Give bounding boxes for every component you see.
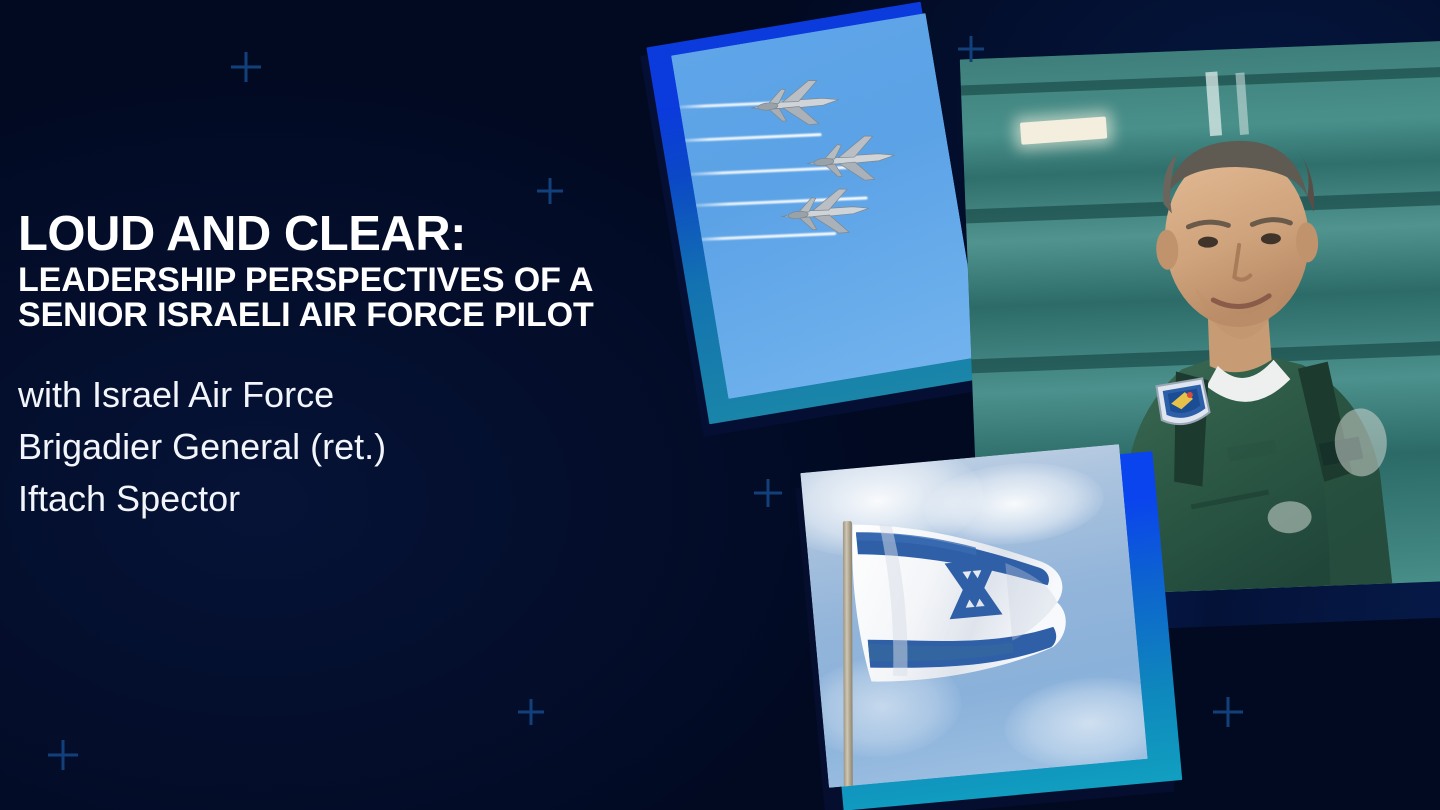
page-subtitle: LEADERSHIP PERSPECTIVES OF A SENIOR ISRA… — [18, 263, 678, 333]
plus-icon — [754, 479, 782, 507]
plus-icon — [1213, 697, 1243, 727]
page-title: LOUD AND CLEAR: — [18, 205, 718, 263]
fighter-jet — [787, 189, 863, 238]
presenter-line-1: with Israel Air Force — [18, 369, 718, 421]
plus-icon — [48, 740, 78, 770]
israeli-flag-photo — [800, 444, 1147, 788]
presenter-line-3: Iftach Spector — [18, 473, 718, 525]
israeli-flag-photo-card — [790, 452, 1190, 802]
presentation-slide: LOUD AND CLEAR: LEADERSHIP PERSPECTIVES … — [0, 0, 1440, 810]
presenter-line-2: Brigadier General (ret.) — [18, 421, 718, 473]
fighter-jet — [757, 81, 833, 130]
fighter-jets-photo-card — [676, 22, 976, 412]
presenter-block: with Israel Air Force Brigadier General … — [18, 369, 718, 525]
plus-icon — [518, 699, 544, 725]
plus-icon — [537, 178, 563, 204]
israeli-flag — [800, 444, 1147, 788]
title-text-block: LOUD AND CLEAR: LEADERSHIP PERSPECTIVES … — [18, 205, 718, 525]
plus-icon — [231, 52, 261, 82]
